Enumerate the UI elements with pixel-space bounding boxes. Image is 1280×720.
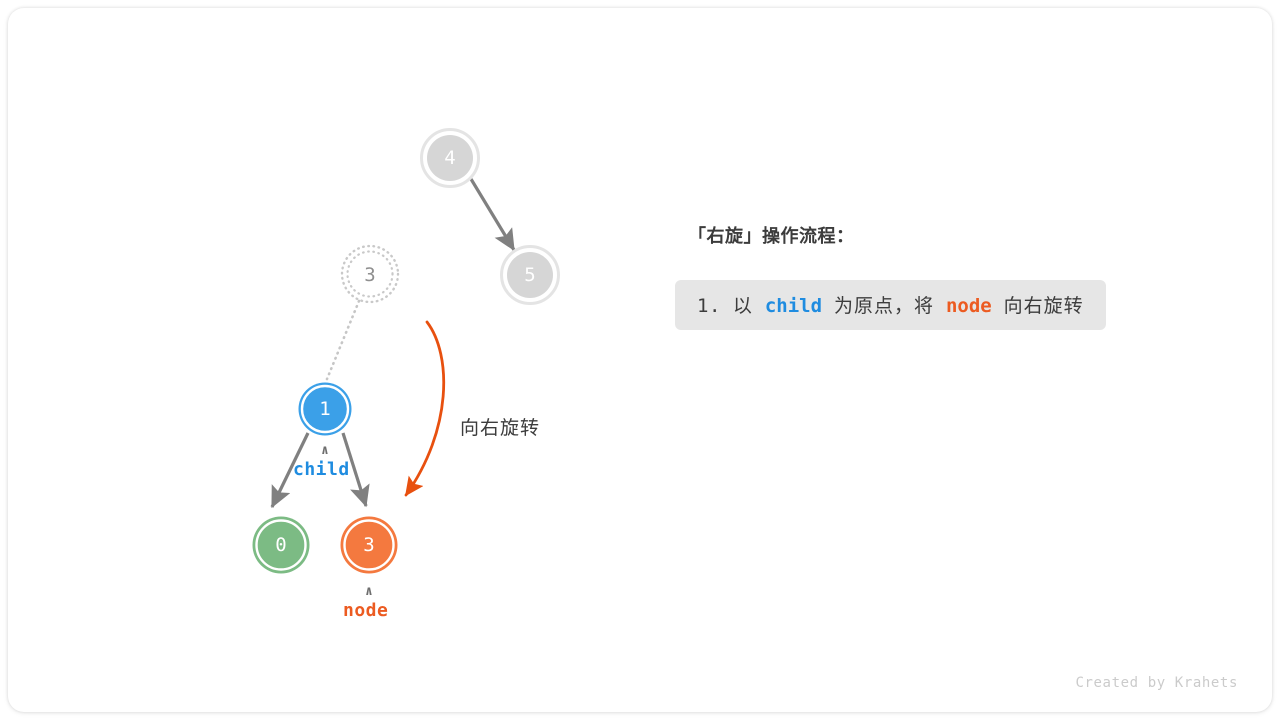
node-pointer-caret-icon: ∧ [365,584,373,599]
node-4-value: 4 [444,147,455,169]
page-title: 「右旋」操作流程： [688,222,1215,248]
watermark: Created by Krahets [1075,675,1238,691]
node-0-value: 0 [275,534,286,556]
explanation-panel: 「右旋」操作流程： 1. 以 child 为原点，将 node 向右旋转 [675,222,1215,330]
rotation-arrow [406,322,444,495]
tree-node-3: 3 [341,517,398,574]
tree-diagram: 4 5 3 1 0 3 [0,0,1280,720]
tree-node-5: 5 [502,247,559,304]
diagram-canvas: 4 5 3 1 0 3 [0,0,1280,720]
step-callout: 1. 以 child 为原点，将 node 向右旋转 [675,280,1106,330]
child-pointer-caret-icon: ∧ [321,443,329,458]
tree-node-4: 4 [422,130,479,187]
step-part2: 为原点，将 [834,295,934,317]
step-number: 1. [697,295,721,317]
tree-node-0: 0 [253,517,310,574]
tree-node-1: 1 [299,383,352,436]
edge-4-to-5 [471,179,514,250]
node-5-value: 5 [524,264,535,286]
step-part1: 以 [733,295,753,317]
node-3-value: 3 [363,534,374,556]
tree-node-3-ghost: 3 [342,246,398,302]
step-part3: 向右旋转 [1004,295,1084,317]
node-3-ghost-value: 3 [364,264,375,286]
step-keyword-node: node [946,295,992,317]
step-keyword-child: child [765,295,822,317]
node-1-value: 1 [319,398,330,420]
edge-ghost3-to-1 [327,301,359,379]
rotation-label: 向右旋转 [460,413,540,440]
child-label: child [293,459,350,480]
node-label: node [343,600,388,621]
